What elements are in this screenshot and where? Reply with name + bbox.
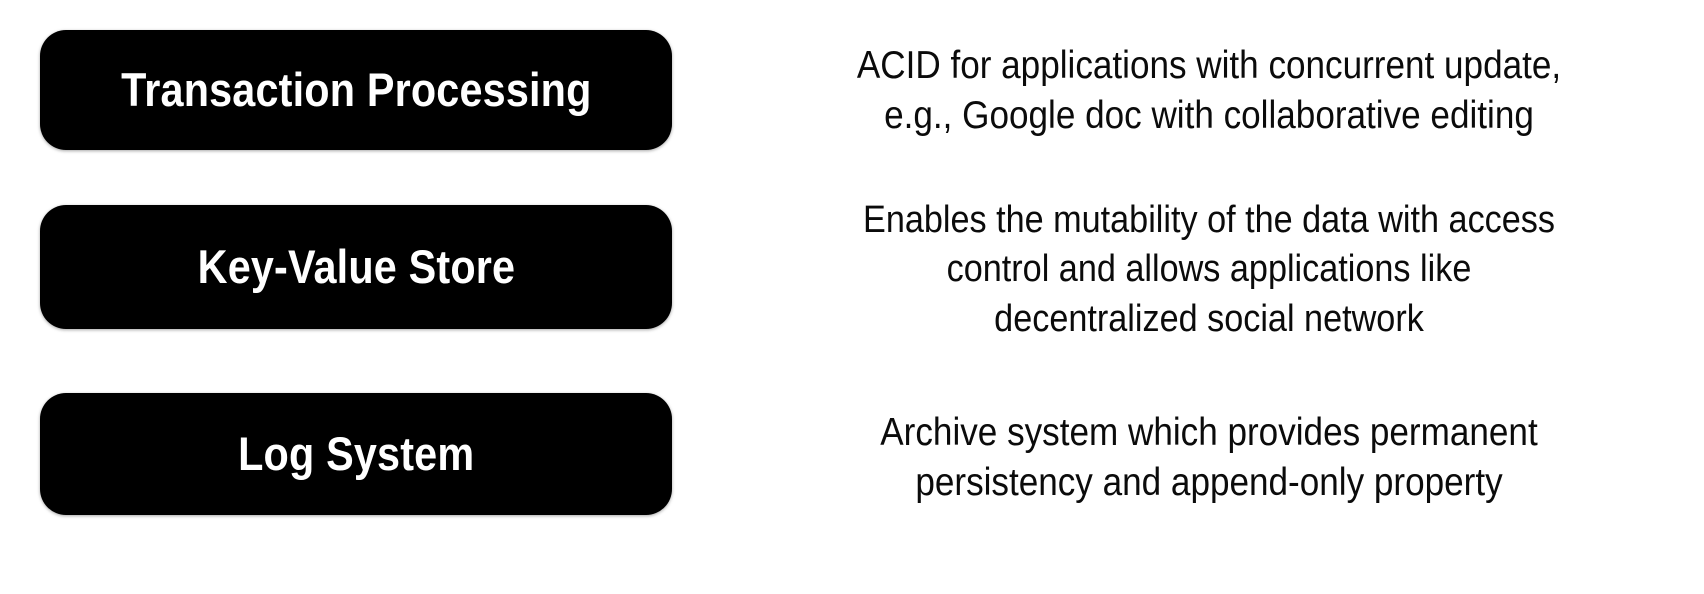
diagram-row: Log System Archive system which provides… (0, 385, 1704, 530)
pill-cell: Key-Value Store (0, 196, 712, 344)
concept-pill-key-value-store[interactable]: Key-Value Store (40, 205, 672, 329)
description-text: Enables the mutability of the data with … (789, 196, 1630, 344)
description-cell: ACID for applications with concurrent up… (712, 18, 1704, 163)
pill-label: Transaction Processing (121, 65, 591, 114)
description-cell: Archive system which provides permanent … (712, 385, 1704, 530)
pill-label: Key-Value Store (197, 242, 515, 291)
pill-cell: Transaction Processing (0, 18, 712, 163)
diagram-row: Transaction Processing ACID for applicat… (0, 18, 1704, 163)
pill-label: Log System (238, 429, 474, 478)
pill-cell: Log System (0, 385, 712, 530)
concept-pill-transaction-processing[interactable]: Transaction Processing (40, 30, 672, 150)
diagram-canvas: Transaction Processing ACID for applicat… (0, 0, 1704, 594)
diagram-row: Key-Value Store Enables the mutability o… (0, 196, 1704, 344)
description-text: ACID for applications with concurrent up… (789, 41, 1630, 141)
description-text: Archive system which provides permanent … (789, 408, 1630, 508)
description-cell: Enables the mutability of the data with … (712, 196, 1704, 344)
concept-pill-log-system[interactable]: Log System (40, 393, 672, 515)
